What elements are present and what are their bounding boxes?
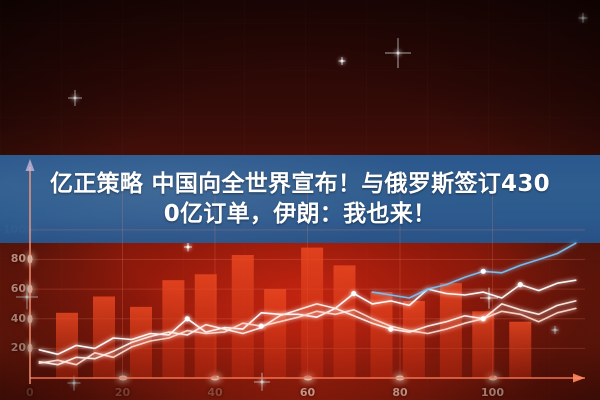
image-canvas: 20406080100204060801000 亿正策略 中国向全世界宣布！与俄… [0, 0, 600, 400]
headline-text-block: 亿正策略 中国向全世界宣布！与俄罗斯签订430 0亿订单，伊朗：我也来！ [0, 155, 600, 243]
headline-line-2: 0亿订单，伊朗：我也来！ [164, 199, 437, 229]
chart-bars [56, 248, 531, 378]
chart-line-series-blue [372, 243, 576, 298]
headline-line-1: 亿正策略 中国向全世界宣布！与俄罗斯签订430 [50, 169, 550, 199]
